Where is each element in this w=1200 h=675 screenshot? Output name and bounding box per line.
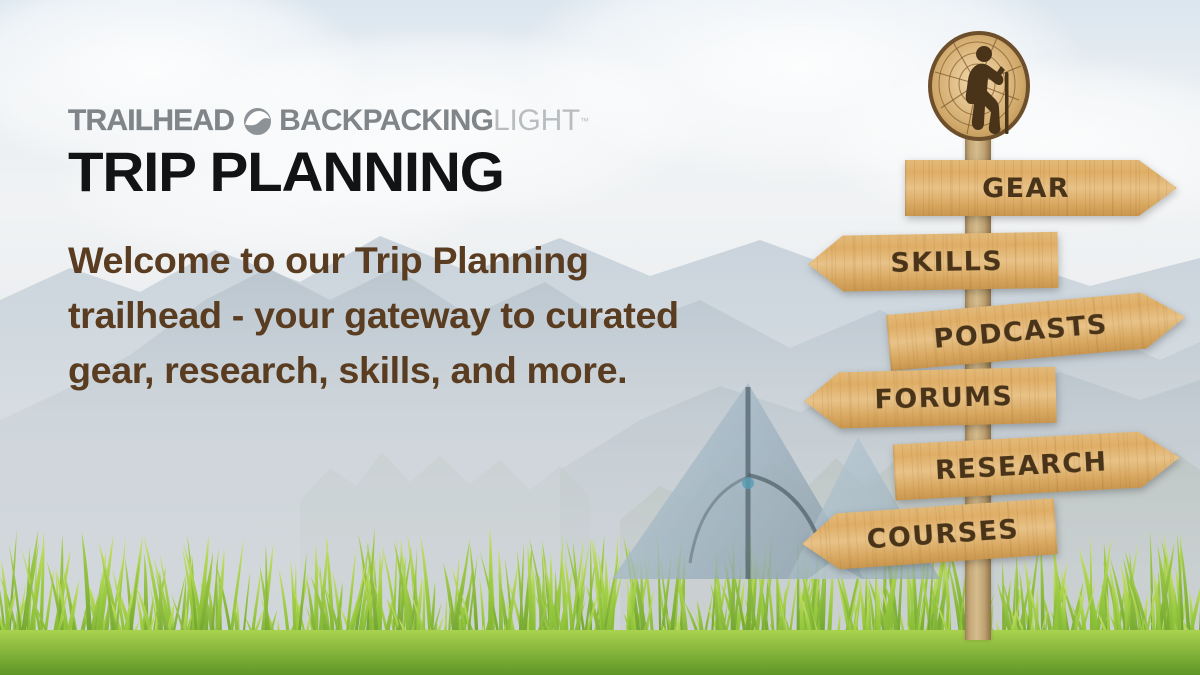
sign-gear[interactable]: GEAR: [905, 160, 1177, 216]
sign-label: SKILLS: [808, 244, 1059, 279]
brand-trailhead-word: TRAILHEAD: [68, 106, 234, 136]
trademark-symbol: ™: [580, 116, 589, 126]
hero-banner: TRAILHEAD BACKPACKING LIGHT ™ TRIP PLANN…: [0, 0, 1200, 675]
sign-podcasts[interactable]: PODCASTS: [886, 289, 1188, 371]
brand-lockup: TRAILHEAD BACKPACKING LIGHT ™: [68, 104, 788, 138]
sign-label: FORUMS: [804, 379, 1057, 417]
hero-description-line: Welcome to our Trip Planning: [68, 234, 782, 289]
page-title: TRIP PLANNING: [68, 144, 817, 200]
sign-label: GEAR: [905, 173, 1177, 204]
sign-forums[interactable]: FORUMS: [803, 367, 1056, 430]
hero-description-line: trailhead - your gateway to curated: [68, 289, 782, 344]
mountain-circle-logo-icon: [243, 107, 272, 136]
hero-text-block: TRAILHEAD BACKPACKING LIGHT ™ TRIP PLANN…: [68, 104, 788, 398]
hiker-log-slice-icon: [927, 28, 1031, 144]
brand-light-word: LIGHT: [493, 106, 580, 136]
sign-skills[interactable]: SKILLS: [808, 232, 1059, 292]
brand-backpacking-word: BACKPACKING: [279, 106, 493, 136]
